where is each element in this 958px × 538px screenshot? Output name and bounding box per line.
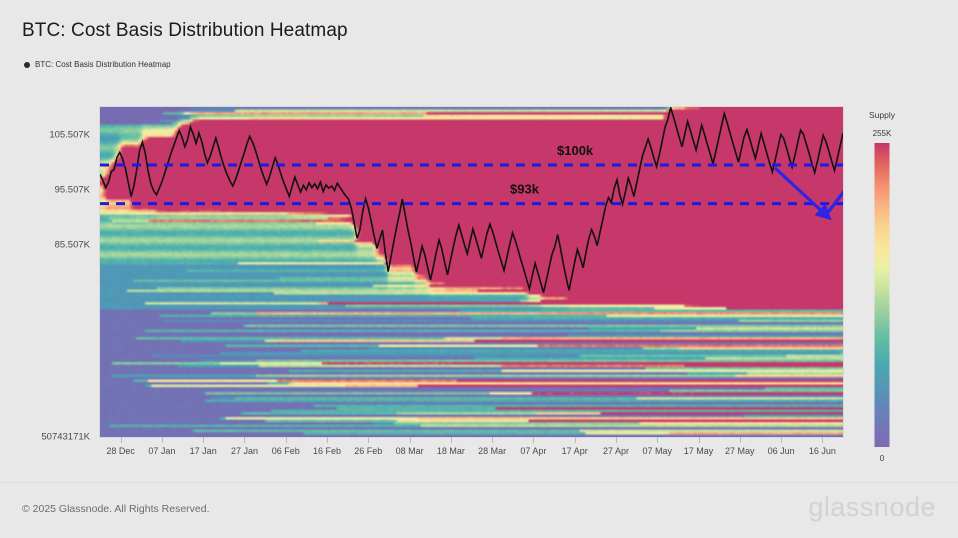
- legend-dot-icon: [24, 62, 30, 68]
- x-axis-tick-mark: [368, 437, 369, 443]
- x-axis-tick-label: 07 Apr: [520, 446, 546, 456]
- x-axis-tick-mark: [286, 437, 287, 443]
- x-axis-tick-mark: [699, 437, 700, 443]
- x-axis-tick-label: 17 Jan: [190, 446, 217, 456]
- series-legend[interactable]: BTC: Cost Basis Distribution Heatmap: [24, 60, 171, 69]
- x-axis-tick-mark: [162, 437, 163, 443]
- x-axis-tick-label: 08 Mar: [396, 446, 424, 456]
- x-axis-tick-mark: [616, 437, 617, 443]
- x-axis-tick-mark: [451, 437, 452, 443]
- chart-page: BTC: Cost Basis Distribution Heatmap BTC…: [0, 0, 958, 538]
- y-axis-tick-label: 95.507K: [55, 184, 90, 195]
- y-axis-tick-label: 85.507K: [55, 240, 90, 251]
- page-title: BTC: Cost Basis Distribution Heatmap: [22, 20, 348, 42]
- x-axis-tick-label: 18 Mar: [437, 446, 465, 456]
- colorbar-min-label: 0: [880, 454, 884, 463]
- x-axis-tick-mark: [781, 437, 782, 443]
- x-axis-tick-label: 26 Feb: [354, 446, 382, 456]
- brand-watermark: glassnode: [808, 492, 936, 523]
- x-axis-tick-mark: [822, 437, 823, 443]
- x-axis-tick-label: 16 Feb: [313, 446, 341, 456]
- x-axis-tick-mark: [410, 437, 411, 443]
- y-axis-tick-label: 105.507K: [49, 129, 90, 140]
- x-axis-tick-label: 28 Dec: [106, 446, 135, 456]
- x-axis-tick-label: 17 May: [684, 446, 714, 456]
- x-axis-tick-label: 27 Jan: [231, 446, 258, 456]
- colorbar-title: Supply: [869, 110, 895, 120]
- x-axis-tick-mark: [327, 437, 328, 443]
- x-axis-tick-mark: [492, 437, 493, 443]
- x-axis-tick-mark: [203, 437, 204, 443]
- x-axis-tick-label: 27 Apr: [603, 446, 629, 456]
- x-axis: 28 Dec07 Jan17 Jan27 Jan06 Feb16 Feb26 F…: [100, 437, 843, 467]
- heatmap-canvas-wrap: [100, 107, 843, 437]
- x-axis-tick-label: 17 Apr: [562, 446, 588, 456]
- copyright-text: © 2025 Glassnode. All Rights Reserved.: [22, 503, 210, 515]
- colorbar-gradient: [875, 143, 890, 447]
- y-axis: 105.507K95.507K85.507K50743171K: [0, 107, 96, 437]
- x-axis-tick-label: 07 Jan: [148, 446, 175, 456]
- x-axis-tick-label: 07 May: [642, 446, 672, 456]
- x-axis-tick-mark: [121, 437, 122, 443]
- legend-label: BTC: Cost Basis Distribution Heatmap: [35, 60, 171, 69]
- x-axis-tick-mark: [657, 437, 658, 443]
- x-axis-tick-mark: [740, 437, 741, 443]
- x-axis-tick-label: 27 May: [725, 446, 755, 456]
- x-axis-tick-mark: [244, 437, 245, 443]
- y-axis-tick-label: 50743171K: [41, 432, 90, 443]
- x-axis-tick-mark: [575, 437, 576, 443]
- x-axis-tick-label: 06 Feb: [272, 446, 300, 456]
- x-axis-tick-mark: [533, 437, 534, 443]
- x-axis-tick-label: 28 Mar: [478, 446, 506, 456]
- footer-divider: [0, 482, 958, 483]
- x-axis-tick-label: 06 Jun: [768, 446, 795, 456]
- heatmap-image: [100, 107, 843, 437]
- heatmap-plot-area[interactable]: $100k$93k: [100, 107, 843, 437]
- x-axis-tick-label: 16 Jun: [809, 446, 836, 456]
- colorbar-max-label: 255K: [873, 129, 892, 138]
